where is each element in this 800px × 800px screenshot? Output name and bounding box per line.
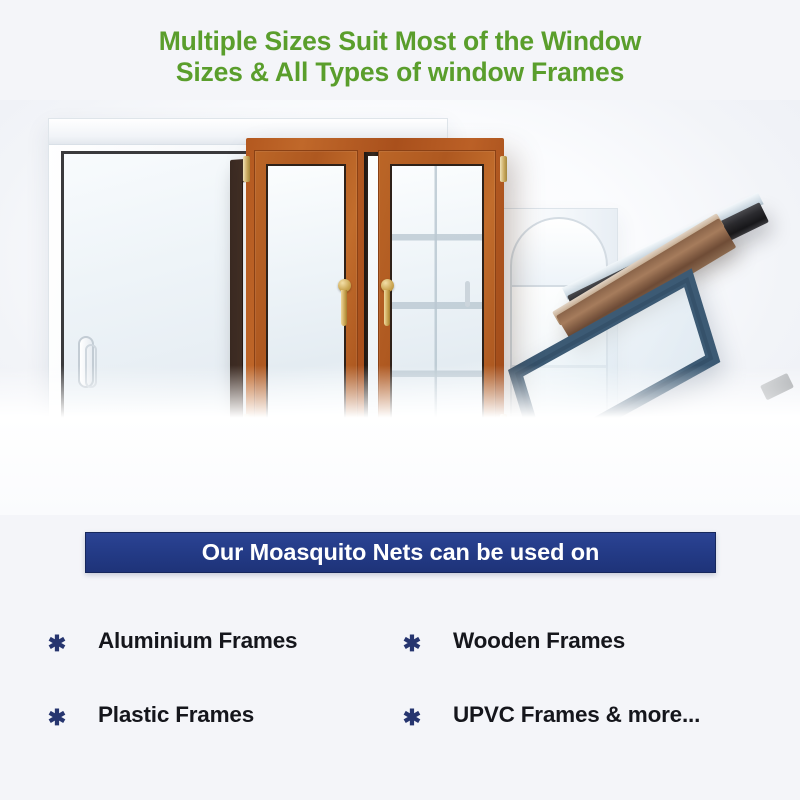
page-title: Multiple Sizes Suit Most of the Window S…: [0, 26, 800, 88]
list-item-label: Plastic Frames: [98, 702, 254, 728]
list-item-label: Aluminium Frames: [98, 628, 297, 654]
usage-banner-text: Our Moasquito Nets can be used on: [202, 539, 600, 566]
list-item-plastic-frames: ✱ Plastic Frames: [40, 701, 395, 729]
page-title-line-2: Sizes & All Types of window Frames: [0, 57, 800, 88]
product-image: [0, 100, 800, 515]
background-window-handle: [465, 281, 470, 307]
list-item-aluminium-frames: ✱ Aluminium Frames: [40, 627, 395, 655]
asterisk-icon: ✱: [395, 627, 429, 655]
list-item-upvc-frames: ✱ UPVC Frames & more...: [395, 701, 770, 729]
list-item-label: Wooden Frames: [453, 628, 625, 654]
frame-types-list: ✱ Aluminium Frames ✱ Wooden Frames ✱ Pla…: [40, 604, 770, 752]
wood-window-hinge-top-right: [500, 156, 507, 182]
product-image-floor-shadow: [0, 365, 800, 515]
list-item-label: UPVC Frames & more...: [453, 702, 700, 728]
asterisk-icon: ✱: [395, 701, 429, 729]
asterisk-icon: ✱: [40, 627, 74, 655]
usage-banner: Our Moasquito Nets can be used on: [85, 532, 716, 573]
list-item-wooden-frames: ✱ Wooden Frames: [395, 627, 770, 655]
wood-window-hinge-top-left: [243, 156, 250, 182]
page-title-line-1: Multiple Sizes Suit Most of the Window: [0, 26, 800, 57]
asterisk-icon: ✱: [40, 701, 74, 729]
wood-window-left-gold-handle: [338, 279, 351, 292]
